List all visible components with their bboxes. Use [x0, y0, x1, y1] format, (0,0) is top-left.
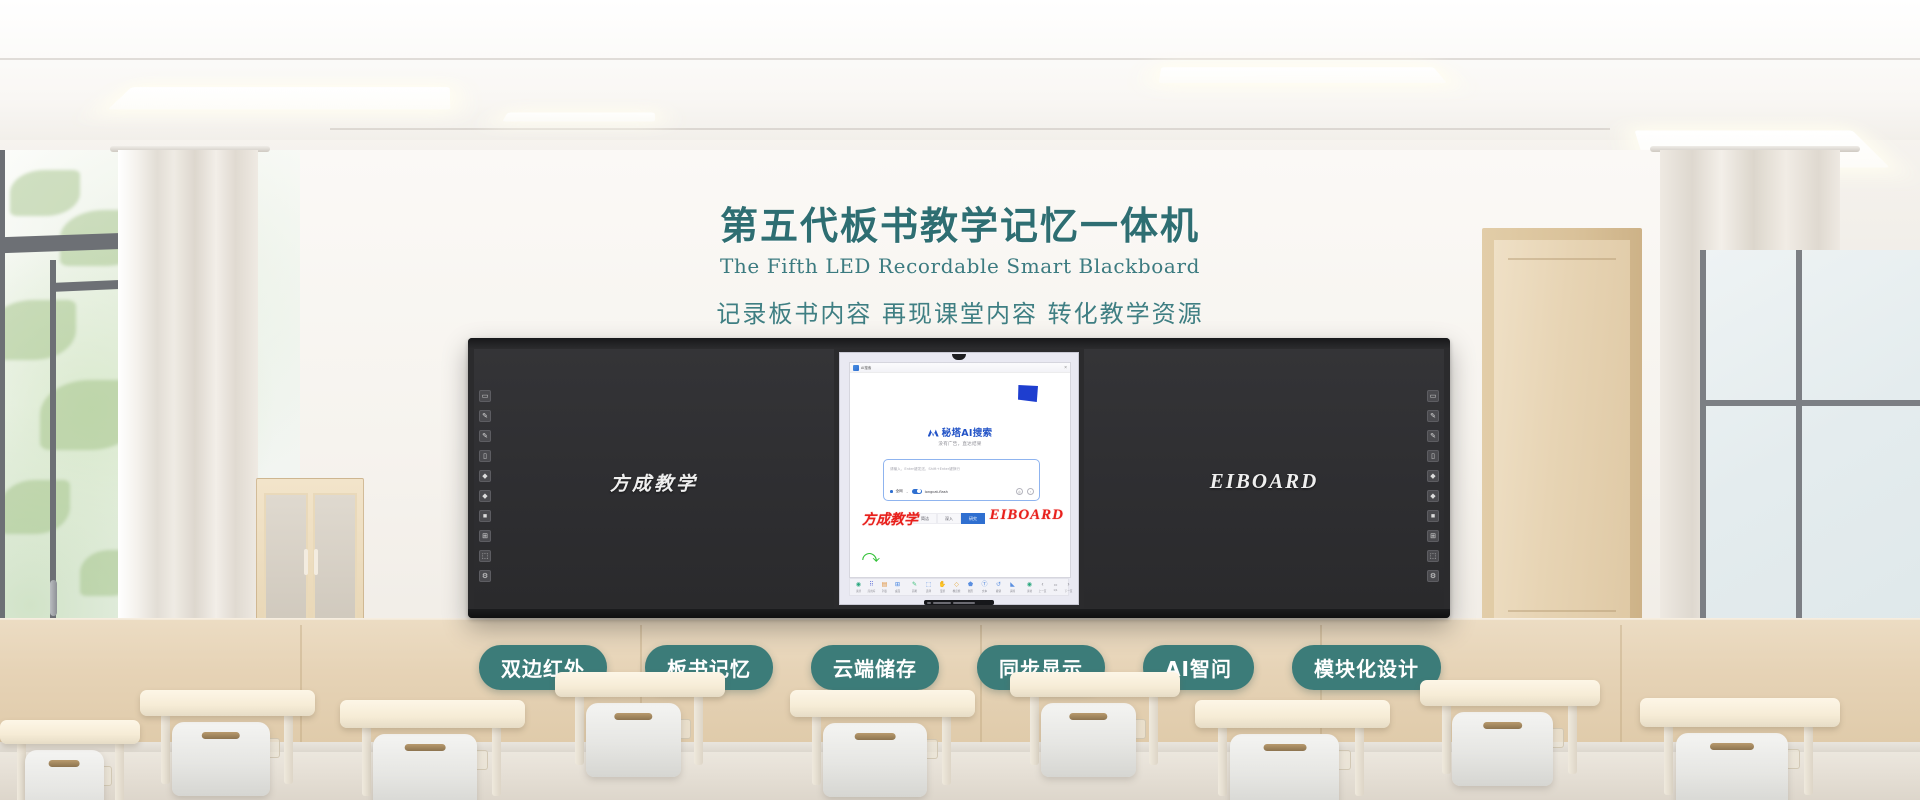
prev-icon[interactable]: ‹ 上一页 [1038, 581, 1047, 594]
model-toggle[interactable] [912, 489, 922, 494]
blackboard-top-bezel [468, 338, 1450, 348]
search-action-buttons[interactable]: 简洁 深入 研究 [913, 513, 985, 524]
right-panel-wordmark: EIBOARD [1084, 469, 1444, 494]
search-mode-label[interactable]: 全网 [896, 489, 903, 494]
desk-top [1010, 672, 1180, 697]
desk-leg [1030, 695, 1039, 765]
select-icon[interactable]: ⬚ 选择 [924, 581, 933, 594]
toolbar-label: 图形 [968, 589, 973, 593]
classroom-scene: 第五代板书教学记忆一体机 The Fifth LED Recordable Sm… [0, 0, 1920, 800]
search-input-placeholder[interactable]: 请输入，Enter键发送，Shift+Enter键换行 [890, 467, 960, 472]
toolbar-label: 录屏 [856, 589, 861, 593]
page-description: 记录板书内容 再现课堂内容 转化教学资源 [0, 294, 1920, 329]
hand-icon[interactable]: ✋ 漫游 [938, 581, 947, 594]
windows-icon[interactable]: ⊞ 桌面 [893, 581, 902, 594]
blackboard-right-panel[interactable]: EIBOARD [1084, 349, 1444, 608]
settings-icon[interactable]: ⚙ [1427, 570, 1439, 582]
page-icon[interactable]: ▯ [1427, 450, 1439, 462]
ceiling-light-panel [1159, 67, 1447, 83]
model-toggle-label: longcat-flash [925, 490, 948, 494]
page-subtitle: The Fifth LED Recordable Smart Blackboar… [0, 254, 1920, 278]
foliage [0, 480, 70, 534]
desk-top [790, 690, 975, 717]
desk-top [1640, 698, 1840, 727]
screenshot-icon[interactable]: ⬚ [479, 550, 491, 562]
pen-thin-icon[interactable]: ✎ [479, 430, 491, 442]
handwriting-left: 方成教学 [862, 509, 918, 529]
text-glyph: Ⓣ [981, 581, 987, 589]
hero-header: 第五代板书教学记忆一体机 The Fifth LED Recordable Sm… [0, 195, 1920, 329]
chair-grip [405, 744, 446, 751]
prev-glyph: ‹ [1042, 581, 1044, 589]
toolbar-left-group: ◉ 录屏 ⠿ 应用库 ▤ 列表 ⊞ 桌面 [850, 581, 906, 594]
toolbar-label: 录制 [1027, 589, 1032, 593]
pen-thin-icon[interactable]: ✎ [1427, 430, 1439, 442]
screenshot-icon[interactable]: ⬚ [1427, 550, 1439, 562]
brand-name: 秘塔AI搜索 [942, 425, 993, 439]
chevron-down-icon[interactable]: ⌄ [906, 490, 909, 494]
desk-leg [1664, 725, 1673, 795]
select-glyph: ⬚ [926, 581, 932, 589]
chair-grip [1710, 743, 1754, 750]
square-icon[interactable]: ■ [1427, 510, 1439, 522]
toolbar-right-group: ◉ 录制 ‹ 上一页 ▭ 1/1 › 下一页 [1021, 581, 1077, 594]
keyboard-icon[interactable]: ⊞ [1427, 530, 1439, 542]
toolbar-label: 桌面 [895, 589, 900, 593]
toolbar-label: 上一页 [1039, 589, 1047, 593]
shape-icon[interactable]: ⬟ 图形 [966, 581, 975, 594]
student-chair [373, 734, 477, 800]
cabinet-handle[interactable] [304, 549, 308, 575]
action-button-1[interactable]: 深入 [937, 513, 961, 524]
taskbar-tray[interactable] [953, 602, 975, 604]
ceiling-light-panel [502, 113, 655, 122]
left-icon-rail[interactable]: ▭ ✎ ✎ ▯ ◆ ◆ ■ ⊞ ⬚ ⚙ [478, 390, 492, 582]
pen-icon[interactable]: ✎ 画笔 [910, 581, 919, 594]
desk-top [555, 672, 725, 697]
display-icon[interactable]: ▭ [1427, 390, 1439, 402]
record-glyph: ◉ [856, 581, 861, 589]
blue-rectangle-annotation [1018, 385, 1038, 402]
ceiling-seam [0, 58, 1920, 60]
smart-blackboard[interactable]: 方成教学 ▭ ✎ ✎ ▯ ◆ ◆ ■ ⊞ ⬚ ⚙ EIBOARD ▭ ✎ ✎ ▯… [468, 338, 1450, 618]
shape-glyph: ⬟ [968, 581, 973, 589]
desk-top [340, 700, 525, 728]
chair-grip [201, 732, 240, 739]
chair-grip [614, 713, 651, 720]
shape-icon[interactable]: ◆ [1427, 490, 1439, 502]
undo-arrow-annotation: ⤺ [862, 549, 880, 566]
search-actions: ◎ ↑ [1016, 488, 1034, 495]
student-chair [1041, 703, 1136, 777]
ceiling [0, 0, 1920, 140]
ceiling-light-panel [108, 87, 451, 109]
ceiling-seam [330, 128, 1610, 130]
toolbar-center-group: ✎ 画笔 ⬚ 选择 ✋ 漫游 ◇ 橡皮擦 [906, 581, 1021, 594]
toolbar-label: 撤销 [996, 589, 1001, 593]
desk-top [1195, 700, 1390, 728]
send-icon[interactable]: ↑ [1027, 488, 1034, 495]
student-desk [1420, 680, 1600, 790]
settings-icon[interactable]: ⚙ [479, 570, 491, 582]
pen-glyph: ✎ [912, 581, 917, 589]
toolbar-label: 文本 [982, 589, 987, 593]
student-desk [1195, 700, 1390, 800]
chair-grip [855, 733, 896, 740]
desk-leg [942, 715, 951, 785]
app-titlebar[interactable]: AI搜索 × [850, 363, 1070, 373]
student-desk [790, 690, 975, 800]
taskbar-items[interactable] [933, 602, 951, 604]
chair-grip [1263, 744, 1306, 751]
cabinet-door[interactable] [264, 493, 308, 633]
student-desk [1640, 698, 1840, 800]
text-icon[interactable]: Ⓣ 文本 [980, 581, 989, 594]
student-desk [1010, 672, 1180, 782]
square-icon[interactable]: ■ [479, 510, 491, 522]
desk-leg [1355, 726, 1364, 796]
toolbar-label: 橡皮擦 [953, 589, 961, 593]
blackboard-left-panel[interactable]: 方成教学 [474, 349, 834, 608]
student-desk [0, 720, 140, 800]
screen-toolbar[interactable]: ◉ 录屏 ⠿ 应用库 ▤ 列表 ⊞ 桌面 [849, 578, 1069, 596]
brand-tagline: 没有广告，直达结果 [850, 441, 1070, 447]
toolbar-label: 应用库 [868, 589, 876, 593]
apps-icon[interactable]: ⠿ 应用库 [867, 581, 876, 594]
cabinet-door[interactable] [313, 493, 357, 633]
student-desk [555, 672, 725, 782]
eraser-icon[interactable]: ◆ [479, 470, 491, 482]
desk-leg [575, 695, 584, 765]
student-chair [172, 722, 270, 796]
display-icon[interactable]: ▭ [479, 390, 491, 402]
undo-glyph: ↺ [996, 581, 1001, 589]
door-moulding [1508, 610, 1616, 612]
search-box[interactable]: 请输入，Enter键发送，Shift+Enter键换行 全网 ⌄ longcat… [883, 459, 1040, 501]
toolbar-label: 列表 [882, 589, 887, 593]
windows-taskbar[interactable] [924, 600, 994, 605]
right-icon-rail[interactable]: ▭ ✎ ✎ ▯ ◆ ◆ ■ ⊞ ⬚ ⚙ [1426, 390, 1440, 582]
desk-leg [115, 742, 124, 800]
clear-icon[interactable]: ◣ 清除 [1008, 581, 1017, 594]
toolbar-label: 漫游 [940, 589, 945, 593]
pen-icon[interactable]: ✎ [479, 410, 491, 422]
desk-top [1420, 680, 1600, 706]
desk-leg [492, 726, 501, 796]
undo-icon[interactable]: ↺ 撤销 [994, 581, 1003, 594]
left-panel-wordmark: 方成教学 [474, 469, 834, 496]
chair-grip [1069, 713, 1106, 720]
camera-icon[interactable]: ◎ [1016, 488, 1023, 495]
app-body: 秘塔AI搜索 没有广告，直达结果 请输入，Enter键发送，Shift+Ente… [850, 373, 1070, 578]
mode-dot-icon [890, 490, 893, 493]
page-icon[interactable]: ▭ 1/1 [1051, 581, 1060, 593]
taskbar-start-icon[interactable] [927, 602, 931, 604]
feature-badge-row: 双边红外 板书记忆 云端储存 同步显示 AI智问 模块化设计 [0, 645, 1920, 690]
toolbar-label: 1/1 [1053, 589, 1057, 592]
app-window-title: AI搜索 [861, 365, 871, 370]
desk-leg [362, 726, 371, 796]
chair-grip [49, 760, 80, 767]
next-glyph: › [1068, 581, 1070, 589]
list-icon[interactable]: ▤ 列表 [880, 581, 889, 594]
desk-leg [1218, 726, 1227, 796]
desk-leg [812, 715, 821, 785]
badge-modular-design[interactable]: 模块化设计 [1292, 645, 1441, 690]
desk-leg [1804, 725, 1813, 795]
list-glyph: ▤ [882, 581, 888, 589]
search-options-row: 全网 ⌄ longcat-flash ◎ ↑ [890, 488, 1034, 495]
record-icon[interactable]: ◉ 录屏 [854, 581, 863, 594]
camera-icon [952, 354, 966, 360]
eraser-icon[interactable]: ◇ 橡皮擦 [952, 581, 961, 594]
toolbar-label: 下一页 [1065, 589, 1073, 593]
page-title: 第五代板书教学记忆一体机 [0, 195, 1920, 250]
pen-icon[interactable]: ✎ [1427, 410, 1439, 422]
page-glyph: ▭ [1054, 581, 1058, 589]
apps-glyph: ⠿ [869, 581, 873, 589]
handwriting-right: EIBOARD [989, 507, 1064, 524]
next-icon[interactable]: › 下一页 [1064, 581, 1073, 594]
desk-leg [694, 695, 703, 765]
cabinet-handle[interactable] [314, 549, 318, 575]
action-button-2[interactable]: 研究 [961, 513, 985, 524]
desk-leg [1442, 704, 1451, 774]
eraser-icon[interactable]: ◆ [1427, 470, 1439, 482]
desk-top [0, 720, 140, 744]
student-chair [1230, 734, 1339, 800]
student-chair [1452, 712, 1553, 786]
keyboard-icon[interactable]: ⊞ [479, 530, 491, 542]
clear-glyph: ◣ [1010, 581, 1015, 589]
student-chair [1676, 733, 1788, 800]
badge-cloud-storage[interactable]: 云端储存 [811, 645, 939, 690]
ai-search-app-window[interactable]: AI搜索 × 秘塔AI搜索 没有广告，直达结果 请输入，Enter键发送，Shi… [849, 362, 1071, 578]
student-desk [340, 700, 525, 800]
toolbar-label: 清除 [1010, 589, 1015, 593]
desk-leg [284, 714, 293, 784]
desk-leg [1568, 704, 1577, 774]
student-chair [25, 750, 103, 800]
eraser-glyph: ◇ [954, 581, 959, 589]
desk-leg [161, 714, 170, 784]
metaso-logo-icon [928, 428, 939, 437]
desk-top [140, 690, 315, 716]
brand-lockup: 秘塔AI搜索 [850, 425, 1070, 439]
window-transom [1700, 400, 1920, 406]
page-icon[interactable]: ▯ [479, 450, 491, 462]
window-handle[interactable] [50, 580, 57, 616]
hand-glyph: ✋ [939, 581, 946, 589]
student-chair [586, 703, 681, 777]
toolbar-label: 画笔 [912, 589, 917, 593]
close-icon[interactable]: × [1064, 366, 1067, 371]
student-chair [823, 723, 927, 797]
app-favicon-icon [853, 365, 859, 371]
record-icon[interactable]: ◉ 录制 [1025, 581, 1034, 594]
student-desk [140, 690, 315, 800]
windows-glyph: ⊞ [895, 581, 900, 589]
shape-icon[interactable]: ◆ [479, 490, 491, 502]
record-glyph: ◉ [1027, 581, 1032, 589]
toolbar-label: 选择 [926, 589, 931, 593]
blackboard-bottom-bezel [468, 609, 1450, 618]
chair-grip [1483, 722, 1523, 729]
desk-leg [1149, 695, 1158, 765]
center-touch-screen[interactable]: AI搜索 × 秘塔AI搜索 没有广告，直达结果 请输入，Enter键发送，Shi… [839, 352, 1079, 605]
